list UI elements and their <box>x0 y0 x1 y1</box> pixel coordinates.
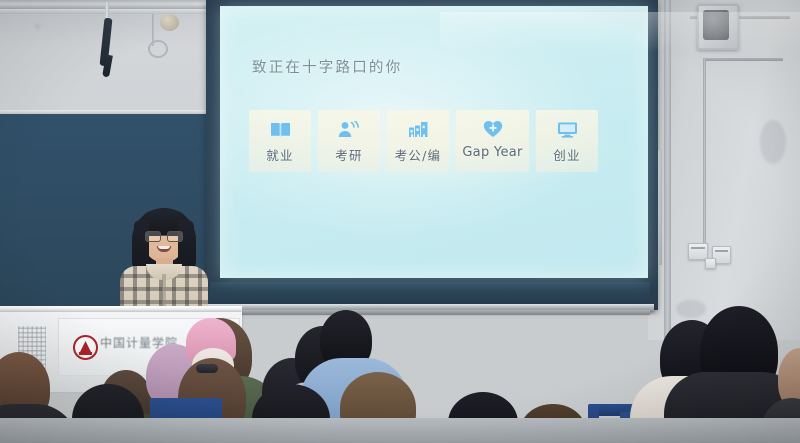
heart-plus-icon <box>482 119 504 139</box>
slide-card-label: 创业 <box>553 145 580 164</box>
floor-strip <box>0 418 800 443</box>
slide-card-postgrad-exam[interactable]: 考研 <box>318 110 380 172</box>
glasses-icon <box>145 231 183 240</box>
person-megaphone-icon <box>338 119 360 139</box>
wall-mark-1 <box>760 120 786 164</box>
classroom-photo: 致正在十字路口的你 就业 考研 <box>0 0 800 443</box>
wall-conduit-horizontal <box>703 58 783 61</box>
open-book-icon <box>269 119 291 139</box>
slide-card-employment[interactable]: 就业 <box>249 110 311 172</box>
desktop-monitor-icon <box>556 119 578 139</box>
right-wall-column <box>664 0 671 340</box>
wall-conduit-vertical <box>703 58 706 248</box>
slide-card-label: Gap Year <box>462 145 522 160</box>
wall-mark-2 <box>676 300 706 318</box>
wall-outlet-3 <box>705 258 716 269</box>
ceiling-light-icon <box>160 14 179 31</box>
wall-speaker-icon <box>697 4 739 50</box>
slide-card-label: 考研 <box>335 145 362 164</box>
slide-card-row: 就业 考研 <box>249 110 598 172</box>
slide-card-startup[interactable]: 创业 <box>536 110 598 172</box>
chalk-ledge-lip <box>210 310 650 315</box>
ceiling-mount-ring <box>148 40 168 58</box>
slide-card-label: 考公/编 <box>395 145 442 164</box>
slide-title: 致正在十字路口的你 <box>252 56 402 77</box>
slide-card-label: 就业 <box>266 145 293 164</box>
university-emblem-icon <box>73 335 98 360</box>
wall-mark-3 <box>35 24 40 29</box>
hair-tie-icon <box>196 364 218 373</box>
slide-card-gap-year[interactable]: Gap Year <box>456 110 529 172</box>
factory-building-icon <box>407 119 429 139</box>
slide-card-civil-service[interactable]: 考公/编 <box>387 110 449 172</box>
speaker-cone-icon <box>703 10 729 40</box>
